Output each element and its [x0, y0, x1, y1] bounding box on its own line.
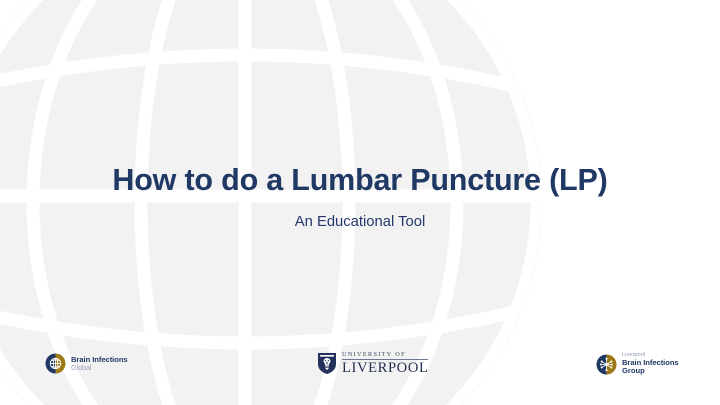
liverpool-shield-crest-icon [317, 352, 337, 375]
logo-strip: Brain Infections Global [0, 345, 720, 405]
logo-text-brain-infections-global: Brain Infections Global [71, 356, 128, 372]
logo-line-3: Group [622, 367, 679, 375]
brain-network-split-blue-gold-icon [596, 354, 617, 375]
logo-text-liverpool-brain-infections-group: Liverpool Brain Infections Group [622, 353, 679, 375]
logo-university-of-liverpool: UNIVERSITY OF LIVERPOOL [317, 352, 428, 376]
page-subtitle: An Educational Tool [60, 214, 660, 232]
logo-line-1: UNIVERSITY OF [342, 352, 428, 360]
logo-line-2: LIVERPOOL [342, 361, 428, 376]
logo-line-2: Global [71, 364, 128, 372]
globe-split-blue-gold-icon [45, 353, 66, 374]
page-title: How to do a Lumbar Puncture (LP) [60, 163, 660, 197]
title-slide: How to do a Lumbar Puncture (LP) An Educ… [0, 0, 720, 405]
logo-liverpool-brain-infections-group: Liverpool Brain Infections Group [596, 353, 679, 375]
logo-brain-infections-global: Brain Infections Global [45, 353, 128, 374]
logo-text-university-of-liverpool: UNIVERSITY OF LIVERPOOL [342, 352, 428, 376]
